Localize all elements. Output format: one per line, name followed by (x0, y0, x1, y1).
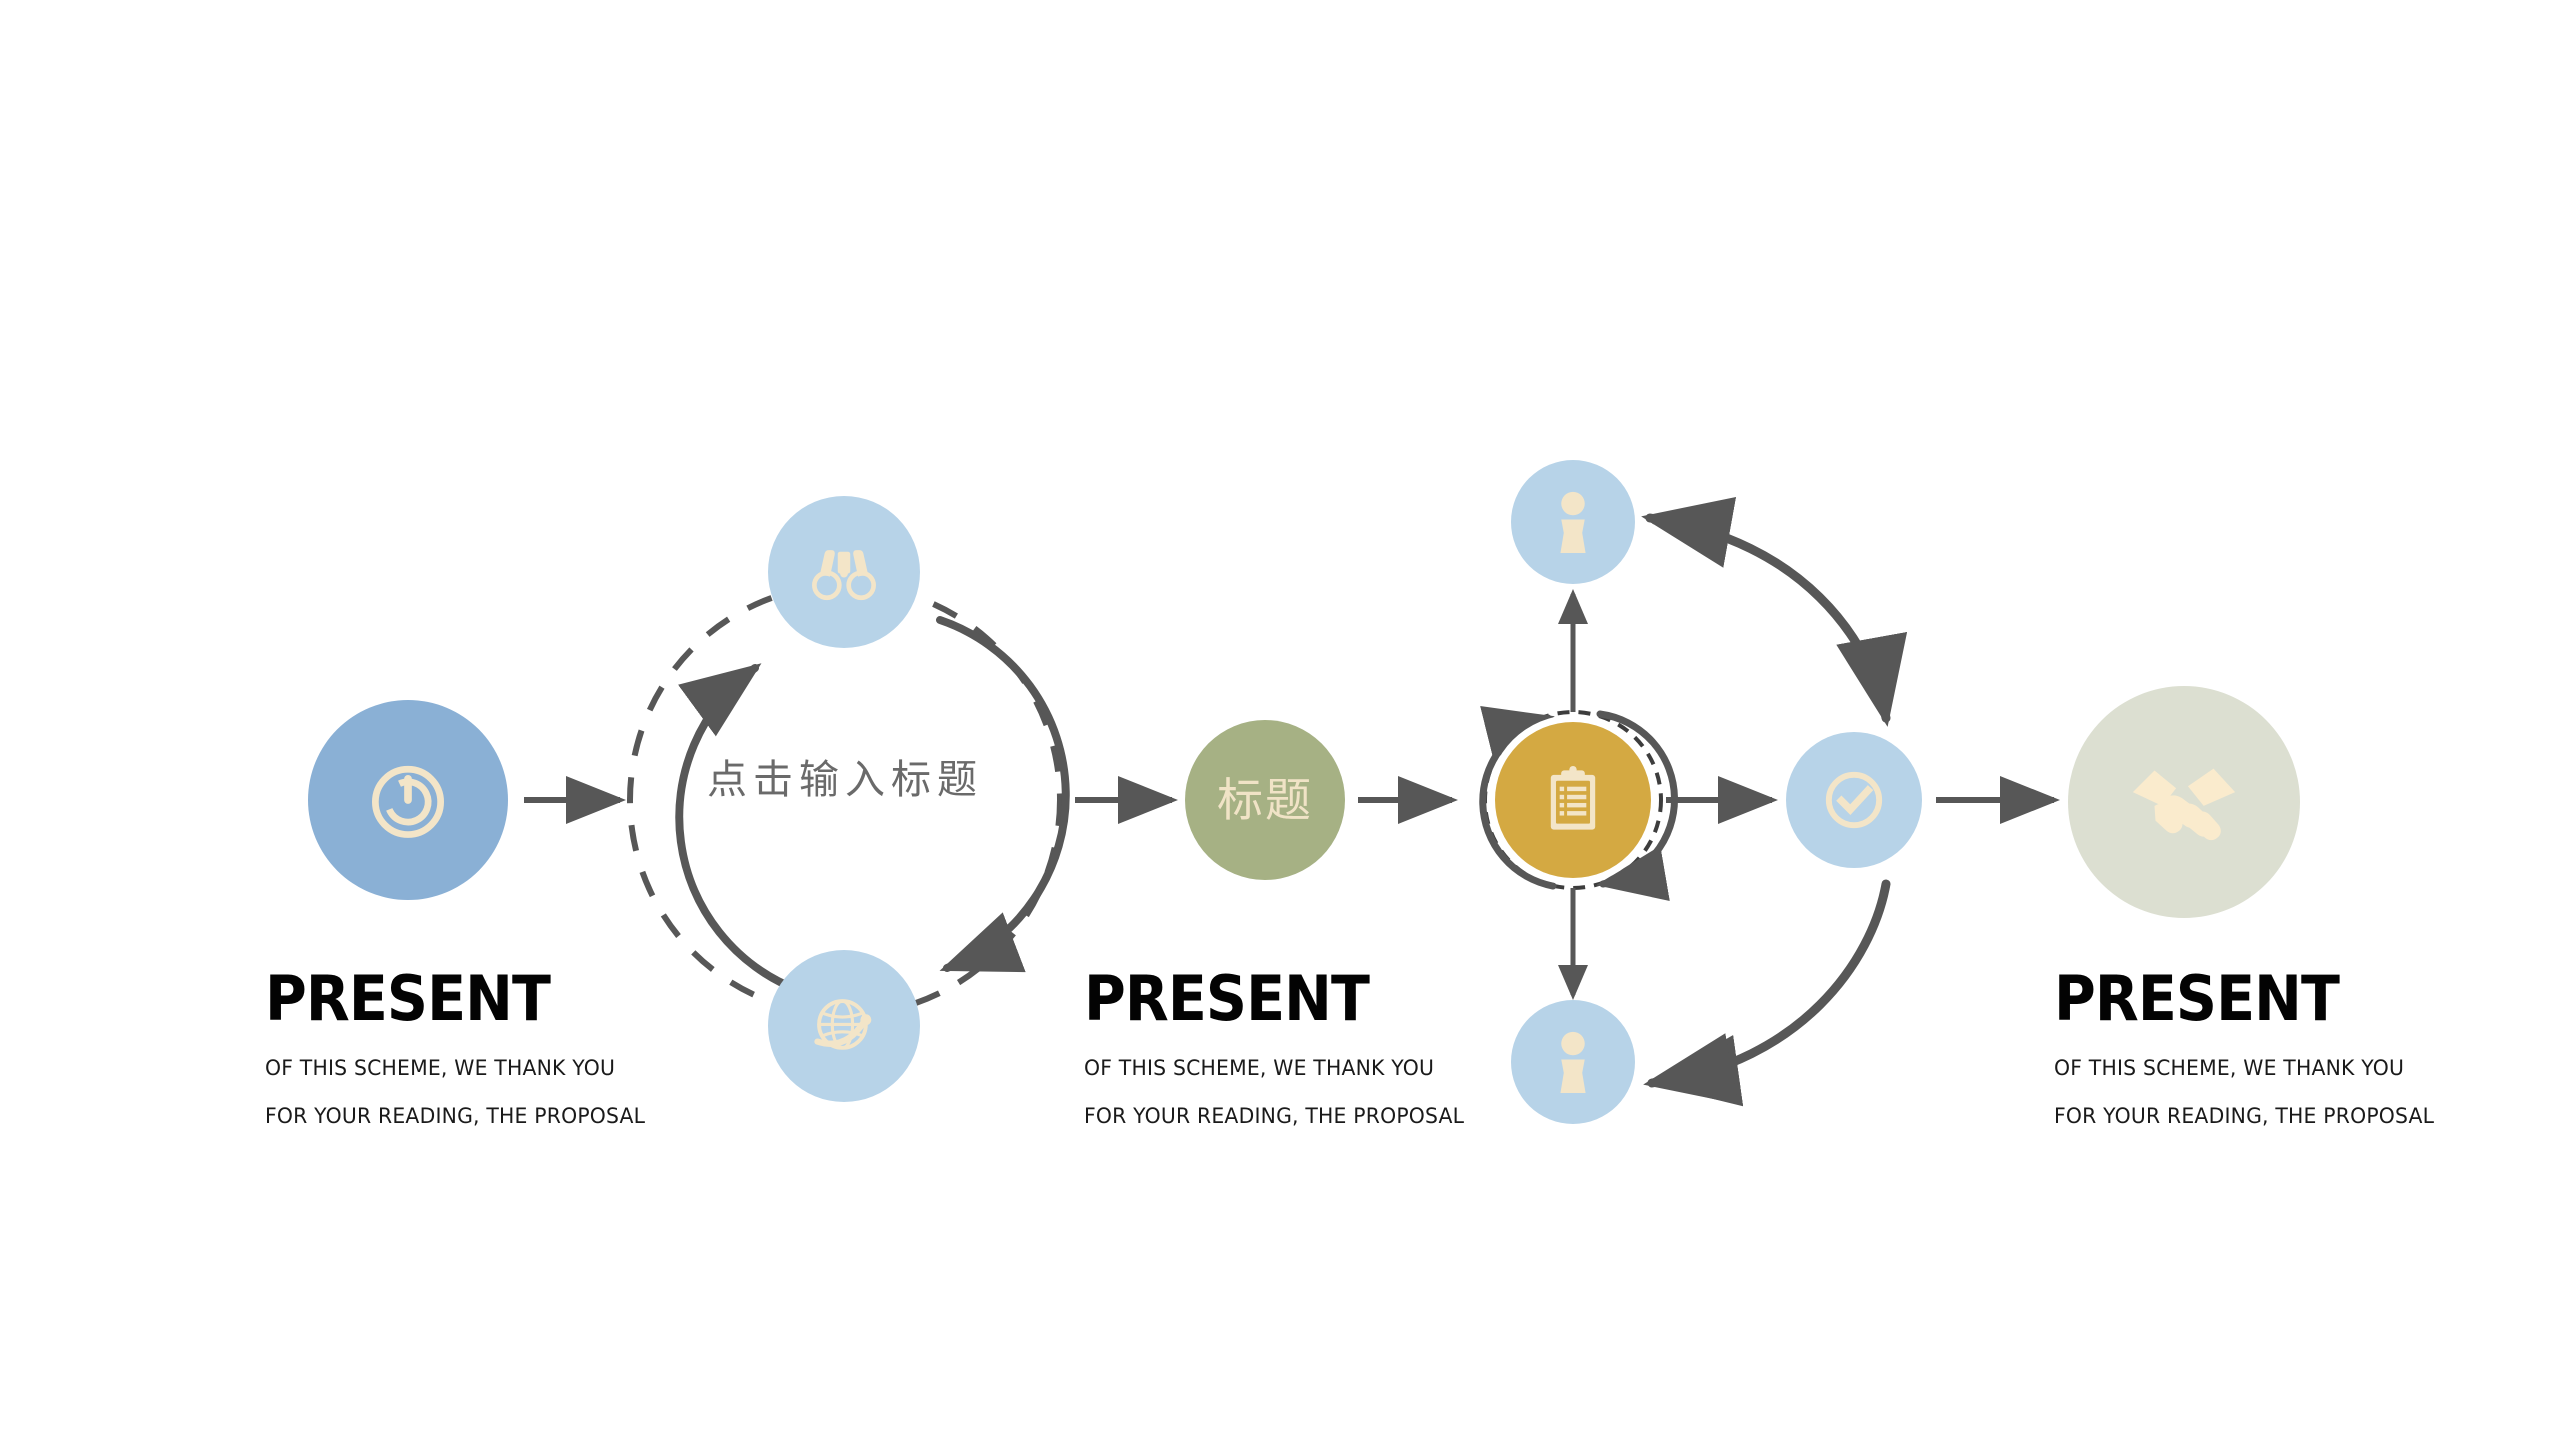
stage-binoculars-circle[interactable] (768, 496, 920, 648)
present-heading: PRESENT (265, 968, 626, 1030)
globe-icon (805, 987, 883, 1065)
stage-handshake-circle[interactable] (2068, 686, 2300, 918)
cycle-center-label: 点击输入标题 (700, 760, 990, 800)
stage-power-circle[interactable] (308, 700, 508, 900)
cycle-arc-left (679, 668, 798, 990)
title-circle-label: 标题 (1217, 777, 1313, 823)
curve-check-to-person-top-back (1656, 518, 1884, 716)
present-line-2: FOR YOUR READING, THE PROPOSAL (2054, 1106, 2434, 1127)
slide-canvas: { "theme": { "background": "#ffffff", "b… (0, 0, 2560, 1440)
present-line-1: OF THIS SCHEME, WE THANK YOU (2054, 1058, 2434, 1079)
handshake-icon (2125, 752, 2243, 852)
stage-globe-circle[interactable] (768, 950, 920, 1102)
arrow-to-person-bottom (1652, 1074, 1702, 1083)
text-block-3: PRESENT OF THIS SCHEME, WE THANK YOU FOR… (2054, 968, 2446, 1154)
binoculars-icon (805, 533, 883, 611)
text-block-2: PRESENT OF THIS SCHEME, WE THANK YOU FOR… (1084, 968, 1476, 1154)
person-icon (1545, 491, 1601, 553)
person-icon (1545, 1031, 1601, 1093)
clipboard-list-icon (1536, 763, 1610, 837)
stage-title-circle[interactable]: 标题 (1185, 720, 1345, 880)
stage-check-circle[interactable] (1786, 732, 1922, 868)
text-block-1: PRESENT OF THIS SCHEME, WE THANK YOU FOR… (265, 968, 657, 1154)
present-line-1: OF THIS SCHEME, WE THANK YOU (1084, 1058, 1464, 1079)
present-heading: PRESENT (2054, 968, 2415, 1030)
curve-check-to-person-bottom (1658, 884, 1886, 1082)
check-circle-icon (1817, 763, 1891, 837)
curve-person-top-to-check (1655, 520, 1886, 718)
stage-person-top-circle[interactable] (1511, 460, 1635, 584)
arrow-to-person-top (1650, 518, 1700, 527)
curve-person-bottom-to-check-back (1660, 886, 1884, 1078)
present-line-2: FOR YOUR READING, THE PROPOSAL (265, 1106, 645, 1127)
present-line-2: FOR YOUR READING, THE PROPOSAL (1084, 1106, 1464, 1127)
stage-person-bottom-circle[interactable] (1511, 1000, 1635, 1124)
stage-clipboard-circle[interactable] (1495, 722, 1651, 878)
present-line-1: OF THIS SCHEME, WE THANK YOU (265, 1058, 645, 1079)
present-heading: PRESENT (1084, 968, 1445, 1030)
power-icon (360, 752, 456, 848)
